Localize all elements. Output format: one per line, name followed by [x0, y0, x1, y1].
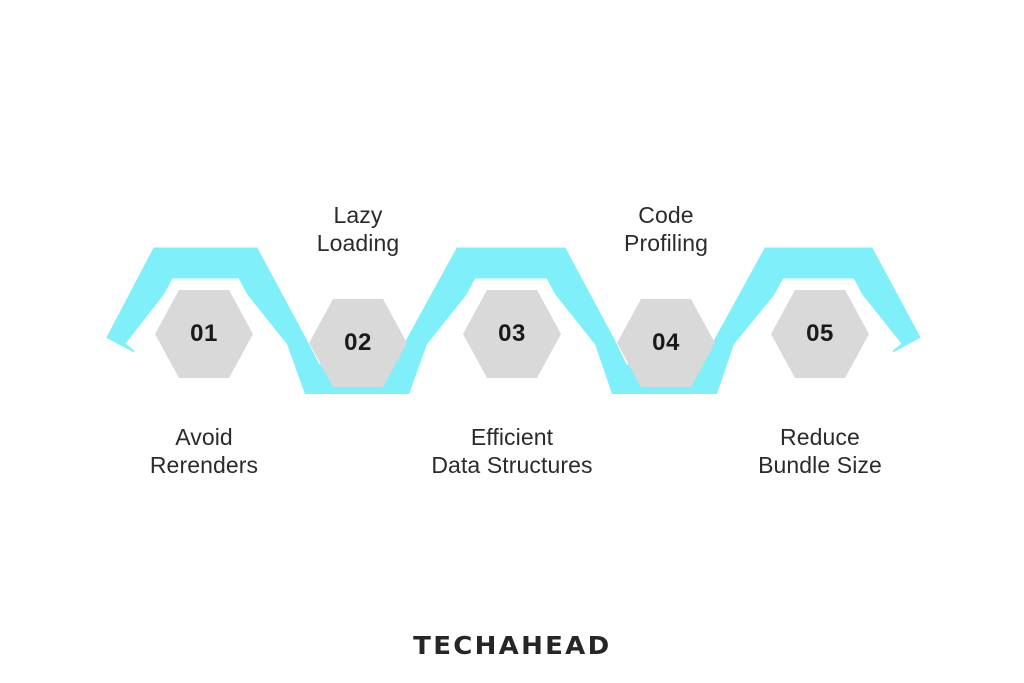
hex-number-1: 01: [154, 320, 254, 348]
hex-number-3: 03: [462, 320, 562, 348]
step-label-5: Reduce Bundle Size: [690, 423, 950, 479]
step-label-2: Lazy Loading: [228, 201, 488, 257]
hex-number-4: 04: [616, 329, 716, 357]
brand-logo-text: TECHAHEAD: [413, 631, 611, 660]
hex-number-2: 02: [308, 329, 408, 357]
brand-logo: TECHAHEAD: [0, 631, 1024, 660]
hex-number-5: 05: [770, 320, 870, 348]
step-label-3: Efficient Data Structures: [382, 423, 642, 479]
step-label-1: Avoid Rerenders: [74, 423, 334, 479]
step-label-4: Code Profiling: [536, 201, 796, 257]
infographic-canvas: 01 02 03 04 05 Avoid Rerenders Lazy Load…: [0, 0, 1024, 683]
